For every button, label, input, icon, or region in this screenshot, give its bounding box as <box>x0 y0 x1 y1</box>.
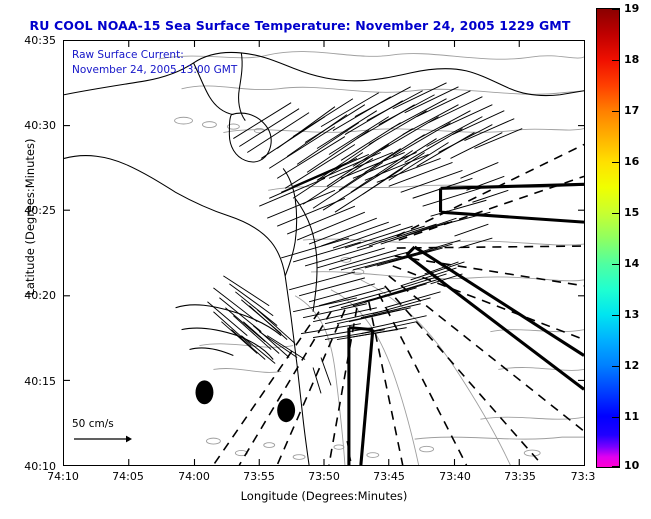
colorbar-tick-label: 14 <box>624 257 651 270</box>
x-tick-label: 74:05 <box>98 470 158 483</box>
station-marker <box>195 380 213 404</box>
temperature-colorbar <box>596 8 620 468</box>
colorbar-tickmark <box>612 315 620 316</box>
x-tick-label: 73:35 <box>490 470 550 483</box>
figure-title: RU COOL NOAA-15 Sea Surface Temperature:… <box>0 18 600 33</box>
x-tick-label: 74:00 <box>164 470 224 483</box>
colorbar-tickmark <box>612 60 620 61</box>
colorbar-tick-label: 11 <box>624 410 651 423</box>
y-tick-label: 40:35 <box>2 34 56 47</box>
radar-beam-dashed-rays <box>213 145 584 465</box>
colorbar-tick-label: 16 <box>624 155 651 168</box>
x-tick-label: 73:55 <box>229 470 289 483</box>
colorbar-tick-label: 13 <box>624 308 651 321</box>
scale-arrow-icon <box>72 433 134 445</box>
colorbar-tick-label: 15 <box>624 206 651 219</box>
colorbar-tickmark <box>612 466 620 467</box>
colorbar-tickmark <box>612 162 620 163</box>
x-tick-label: 73:40 <box>425 470 485 483</box>
x-tick-label: 73:50 <box>294 470 354 483</box>
colorbar-tick-label: 17 <box>624 104 651 117</box>
colorbar-tick-label: 10 <box>624 459 651 472</box>
y-tick-label: 40:15 <box>2 375 56 388</box>
x-tick-label: 74:10 <box>33 470 93 483</box>
y-axis-title: Latitude (Degrees:Minutes) <box>23 107 37 327</box>
colorbar-tickmark <box>612 213 620 214</box>
colorbar-tickmark <box>612 366 620 367</box>
colorbar-tick-label: 19 <box>624 2 651 15</box>
x-tick-label: 73:45 <box>359 470 419 483</box>
scale-legend-label: 50 cm/s <box>72 418 182 430</box>
sst-current-map-figure: RU COOL NOAA-15 Sea Surface Temperature:… <box>0 0 651 519</box>
colorbar-tick-label: 12 <box>624 359 651 372</box>
vector-scale-legend: 50 cm/s <box>72 418 182 445</box>
map-plot-area: Raw Surface Current: November 24, 2005 1… <box>63 40 585 466</box>
colorbar-tickmark <box>612 417 620 418</box>
x-tick-label: 73:3 <box>553 470 613 483</box>
colorbar-tickmark <box>612 111 620 112</box>
colorbar-tickmark <box>612 9 620 10</box>
map-vector-graphics <box>64 41 584 465</box>
station-markers <box>195 380 295 422</box>
colorbar-tick-label: 18 <box>624 53 651 66</box>
colorbar-tickmark <box>612 264 620 265</box>
x-axis-title: Longitude (Degrees:Minutes) <box>63 489 585 503</box>
station-marker <box>277 398 295 422</box>
